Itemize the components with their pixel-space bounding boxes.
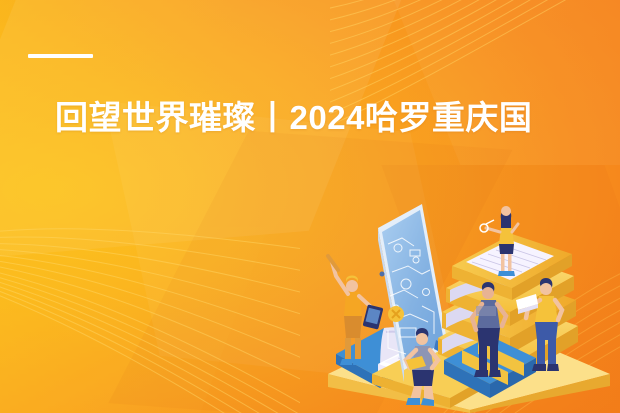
headline-accent-rule — [28, 54, 93, 58]
page-title: 回望世界璀璨丨2024哈罗重庆国 — [55, 99, 532, 137]
isometric-books-illustration — [310, 188, 620, 413]
promo-banner: 回望世界璀璨丨2024哈罗重庆国 — [0, 0, 620, 413]
